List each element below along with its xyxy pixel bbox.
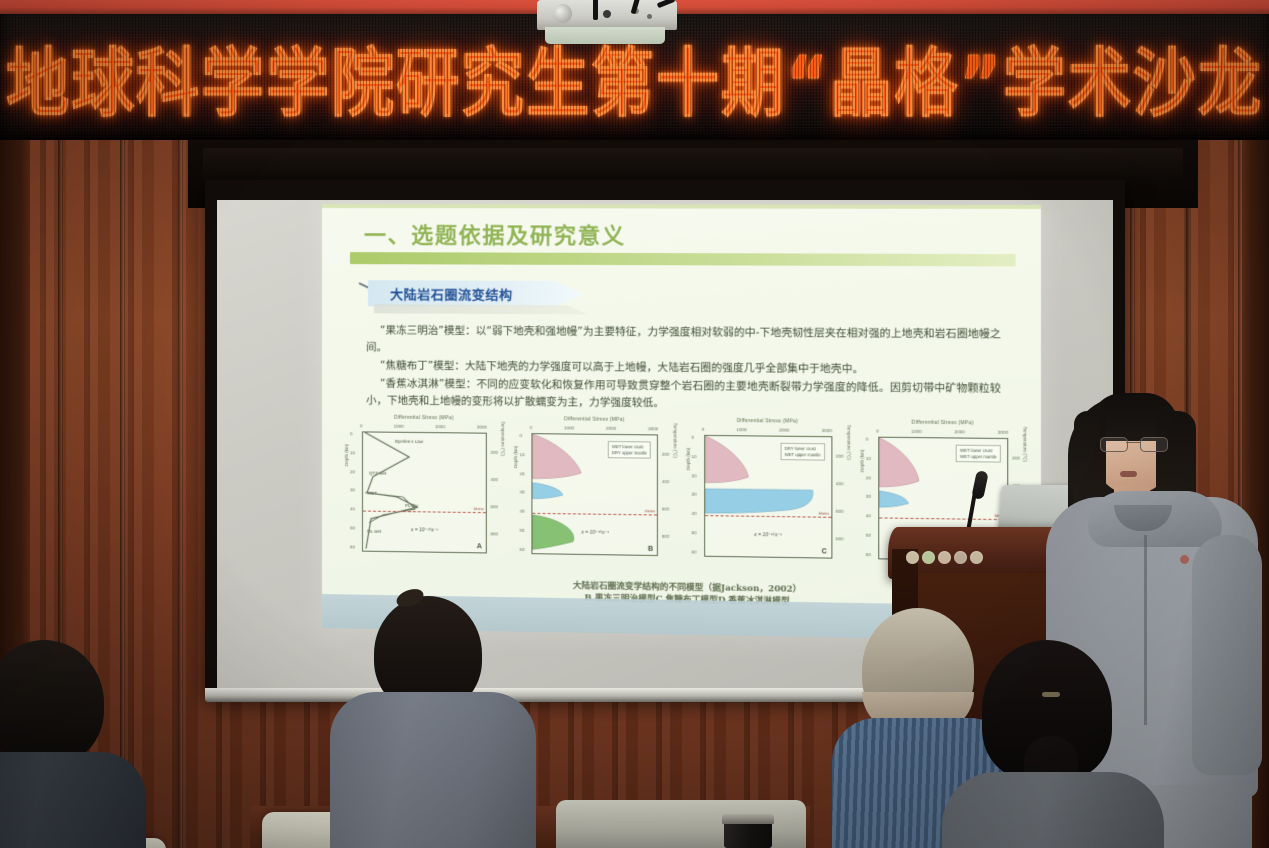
chart-c-ylabel: Depth (km) [685, 448, 690, 471]
chart-d-xtick-0: 0 [876, 428, 879, 433]
chart-panel-b: Differential Stress (MPa) 0 1000 2000 30… [516, 416, 674, 578]
chart-c-ytick-0: 0 [691, 435, 696, 440]
chart-d-ytick-3: 30 [866, 494, 871, 499]
attendee-ponytail [958, 640, 1168, 848]
chart-c-xtick-2: 2000 [779, 428, 789, 433]
chart-a-panel-letter: A [477, 543, 482, 550]
chart-b-ytick-3: 30 [520, 490, 525, 495]
jacket-logo-icon [1180, 555, 1189, 564]
chart-b-xticks: 0 1000 2000 3000 [530, 425, 659, 431]
chart-c-ytick-6: 60 [691, 549, 696, 554]
chart-c-legend: DRY lower crust WET upper mantle [780, 443, 824, 461]
thermos-lid[interactable] [722, 814, 774, 824]
chart-a-y2ticks: 200 400 600 800 [490, 450, 498, 537]
chart-c-plot: DRY lower crust WET upper mantle Moho ε … [704, 435, 832, 559]
chart-c-y2tick-3: 800 [836, 536, 844, 541]
chart-a-xtick-1: 1000 [394, 424, 404, 429]
slide-section-banner-label: 大陆岩石圈流变结构 [390, 284, 513, 304]
chart-a-ytick-2: 20 [350, 469, 355, 474]
chart-c-y2ticks: 200 400 600 800 [836, 454, 844, 542]
chart-d-ytick-2: 20 [866, 475, 871, 480]
chart-d-xtick-2: 2000 [954, 429, 965, 434]
chart-b-panel-letter: B [648, 546, 653, 553]
chart-a-xtick-2: 2000 [435, 424, 445, 429]
attendee-clothing [942, 772, 1164, 848]
chart-d-ytick-6: 60 [866, 552, 871, 557]
slide-section-banner-shadow [374, 304, 588, 314]
chart-a-y2tick-0: 200 [490, 450, 498, 455]
attendee-clothing [0, 752, 146, 848]
glasses-lens-right [1140, 437, 1168, 452]
slide-body-text: “果冻三明治”模型：以“弱下地壳和强地幔”为主要特征，力学强度相对软弱的中-下地… [366, 322, 1001, 416]
chart-b-legend: WET lower crust DRY upper mantle [608, 441, 651, 459]
chart-d-ytick-1: 10 [866, 456, 871, 461]
podium-control-buttons[interactable] [906, 551, 983, 564]
chart-b-xtick-3: 3000 [648, 426, 658, 431]
chart-d-xtick-3: 3000 [998, 430, 1009, 435]
chart-a-ytick-3: 30 [350, 488, 355, 493]
chart-d-legend: WET lower crust WET upper mantle [956, 445, 1001, 463]
chart-b-yticks: 0 10 20 30 40 50 60 [520, 433, 525, 552]
chart-a-xticks: 0 1000 2000 3000 [360, 423, 487, 429]
chart-b-ytick-6: 60 [520, 547, 525, 552]
chart-b-strain-rate: ε = 10⁻¹⁵s⁻¹ [582, 530, 609, 536]
chart-a-strain-rate: ε = 10⁻¹⁵s⁻¹ [411, 527, 438, 533]
chart-b-ytick-1: 10 [520, 452, 525, 457]
chart-c-ytick-1: 10 [691, 454, 696, 459]
attendee-head [0, 640, 104, 766]
chart-b-y2ticks: 200 400 600 800 [662, 452, 670, 539]
chart-a-note-qtz: QTZ wet [369, 471, 386, 476]
chart-c-xtick-3: 3000 [822, 428, 832, 433]
chart-b-y2label: Temperature (°C) [673, 423, 678, 458]
projector-port2-icon [647, 14, 652, 19]
chart-c-strain-rate: ε = 10⁻¹⁵s⁻¹ [754, 532, 782, 538]
podium-button-2[interactable] [922, 551, 935, 564]
attendee-suit-jacket [330, 692, 536, 848]
chart-a-ylabel: Depth (km) [344, 444, 349, 466]
glasses-icon [1100, 437, 1166, 450]
chart-b-ytick-0: 0 [520, 433, 525, 438]
podium-button-4[interactable] [954, 551, 967, 564]
chart-b-xtick-1: 1000 [564, 425, 574, 430]
chart-c-yticks: 0 10 20 30 40 50 60 [691, 435, 696, 555]
projector-mount [545, 27, 665, 44]
chart-a-moho-label: Moho [474, 506, 484, 511]
chart-panel-a: Differential Stress (MPa) 0 1000 2000 30… [346, 414, 502, 575]
presenter-right-arm [1192, 535, 1262, 775]
chart-b-xtick-0: 0 [530, 425, 533, 430]
slide-top-rule [322, 204, 1041, 209]
chart-b-ytick-2: 20 [520, 471, 525, 476]
attendee-suit-center [330, 596, 540, 848]
chart-c-y2tick-0: 200 [836, 454, 844, 459]
chart-panel-c: Differential Stress (MPa) 0 1000 2000 30… [687, 417, 847, 580]
thermos[interactable] [724, 820, 772, 848]
chart-a-xtick-3: 3000 [477, 425, 487, 430]
chart-c-y2label: Temperature (°C) [847, 425, 852, 460]
slide-title: 一、选题依据及研究意义 [364, 218, 626, 251]
hair-tie-icon [1042, 692, 1060, 697]
chart-d-ytick-4: 40 [866, 514, 871, 519]
chart-a-note-pl: PL dry [405, 503, 418, 508]
screen-valance [203, 148, 1183, 182]
chart-a-y2label: Temperature (°C) [501, 421, 506, 456]
chart-c-legend-item-1: WET upper mantle [784, 452, 820, 458]
chart-a-yticks: 0 10 20 30 40 50 60 [350, 431, 355, 549]
attendee-front-left [0, 640, 150, 848]
chart-d-y2tick-0: 200 [1012, 456, 1020, 461]
glasses-bridge [1126, 442, 1140, 443]
chart-c-ytick-5: 50 [691, 530, 696, 535]
podium-button-5[interactable] [970, 551, 983, 564]
chart-c-y2tick-2: 600 [836, 509, 844, 514]
chart-a-ytick-0: 0 [350, 431, 355, 436]
chart-a-y2tick-3: 800 [490, 531, 498, 536]
chart-d-xtick-1: 1000 [911, 429, 921, 434]
chart-b-ytick-5: 50 [520, 528, 525, 533]
chart-a-y2tick-2: 600 [490, 504, 498, 509]
chart-b-legend-item-1: DRY upper mantle [612, 450, 647, 456]
chart-b-y2tick-2: 600 [662, 506, 670, 511]
chart-b-plot: WET lower crust DRY upper mantle Moho ε … [532, 433, 659, 556]
slide-paragraph-1: “果冻三明治”模型：以“弱下地壳和强地幔”为主要特征，力学强度相对软弱的中-下地… [366, 322, 1001, 361]
chart-a-note-ol: OL wet [367, 529, 381, 534]
chart-c-panel-letter: C [822, 548, 827, 555]
chart-b-ytick-4: 40 [520, 509, 525, 514]
chart-b-y2tick-1: 400 [662, 479, 670, 484]
chart-b-xtick-2: 2000 [606, 426, 616, 431]
chart-d-ytick-5: 50 [866, 533, 871, 538]
chart-b-y2tick-0: 200 [662, 452, 670, 457]
chart-c-moho-label: Moho [819, 511, 829, 516]
projector-cable [593, 0, 598, 20]
presentation-room-photo: 地球科学学院研究生第十期“晶格”学术沙龙 一、选题依据及研究意义 [0, 0, 1269, 848]
glasses-lens-left [1100, 437, 1128, 452]
chart-a-ytick-4: 40 [350, 507, 355, 512]
chart-a-ytick-5: 50 [350, 526, 355, 531]
chart-d-y2label: Temperature (°C) [1023, 426, 1028, 462]
podium-button-3[interactable] [938, 551, 951, 564]
chart-a-plot: Byerlee's Law QTZ wet WET PL dry OL wet … [362, 431, 487, 553]
chart-a-note-wet: WET [367, 491, 377, 496]
chart-d-ytick-0: 0 [866, 437, 871, 442]
presenter-mouth [1120, 471, 1137, 477]
chart-c-ytick-4: 40 [691, 511, 696, 516]
chart-c-y2tick-1: 400 [836, 481, 844, 486]
chart-d-xlabel: Differential Stress (MPa) [862, 419, 1025, 427]
chart-c-ytick-2: 20 [691, 473, 696, 478]
chart-b-ylabel: Depth (km) [513, 446, 518, 468]
chart-d-xticks: 0 1000 2000 3000 [876, 428, 1008, 434]
chart-b-y2tick-3: 800 [662, 534, 670, 539]
slide-section-banner: 大陆岩石圈流变结构 [368, 280, 584, 307]
chart-c-ytick-3: 30 [691, 492, 696, 497]
projector-knob-icon [603, 10, 611, 18]
projector-body [537, 0, 677, 30]
chart-a-ytick-6: 60 [350, 544, 355, 549]
chart-c-xtick-0: 0 [702, 427, 705, 432]
podium-button-1[interactable] [906, 551, 919, 564]
chart-d-legend-item-1: WET upper mantle [960, 454, 997, 460]
chart-d-ylabel: Depth (km) [859, 449, 864, 472]
chart-b-xlabel: Differential Stress (MPa) [516, 416, 674, 424]
chart-a-note-byerlee: Byerlee's Law [395, 439, 423, 444]
chart-a-curve [363, 432, 486, 552]
projector [531, 0, 683, 44]
chart-a-ytick-1: 10 [350, 450, 355, 455]
chart-c-xtick-1: 1000 [736, 427, 746, 432]
chart-a-xlabel: Differential Stress (MPa) [346, 414, 502, 422]
chart-b-moho-label: Moho [645, 508, 655, 513]
chart-a-xtick-0: 0 [360, 423, 363, 428]
chart-c-xticks: 0 1000 2000 3000 [702, 427, 832, 433]
slide-paragraph-3: “香蕉冰淇淋”模型：不同的应变软化和恢复作用可导致贯穿整个岩石圈的主要地壳断裂带… [366, 375, 1001, 415]
chart-a-y2tick-1: 400 [490, 477, 498, 482]
projector-lens-icon [553, 4, 572, 23]
slide-title-underline [350, 252, 1016, 266]
chart-c-xlabel: Differential Stress (MPa) [687, 417, 847, 425]
chart-d-yticks: 0 10 20 30 40 50 60 [866, 437, 871, 558]
